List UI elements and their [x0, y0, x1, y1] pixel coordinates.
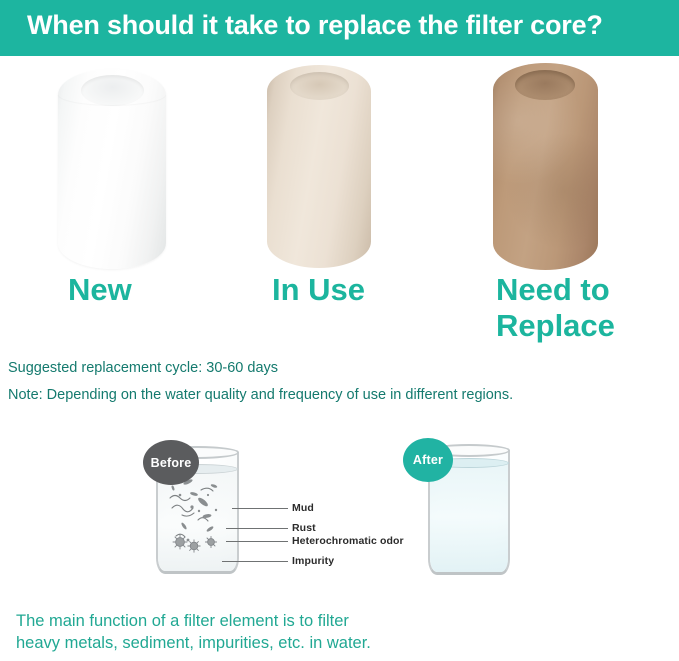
cartridge-bore-hole-icon: [81, 75, 144, 106]
cartridge-bore-hole-icon: [290, 72, 349, 100]
cartridge-bore-hole-icon: [515, 70, 575, 100]
badge-before: Before: [143, 440, 199, 485]
callout-impurity: Impurity: [292, 555, 334, 567]
callout-mud: Mud: [292, 502, 314, 514]
page-title: When should it take to replace the filte…: [27, 10, 667, 41]
leader-line-impurity: [222, 561, 288, 562]
note-replacement-cycle: Suggested replacement cycle: 30-60 days: [8, 360, 278, 376]
leader-line-rust: [226, 528, 288, 529]
filter-cartridge-new: [58, 69, 166, 269]
filter-cartridge-need-replace: [493, 63, 598, 270]
infographic-page: When should it take to replace the filte…: [0, 0, 679, 661]
header-banner: When should it take to replace the filte…: [0, 0, 679, 56]
footer-description: The main function of a filter element is…: [16, 610, 576, 654]
cartridge-label-need-replace: Need to Replace: [496, 272, 615, 344]
cartridge-label-new: New: [68, 272, 132, 308]
callout-rust: Rust: [292, 522, 316, 534]
note-region-dependency: Note: Depending on the water quality and…: [8, 387, 513, 403]
cartridge-label-in-use: In Use: [272, 272, 365, 308]
filter-cartridge-in-use: [267, 65, 371, 268]
leader-line-mud: [232, 508, 288, 509]
before-after-comparison: Before Mud Rust Heterochromatic odor Imp…: [0, 430, 679, 605]
callout-heterochromatic-odor: Heterochromatic odor: [292, 535, 404, 547]
clear-water: [430, 462, 508, 572]
leader-line-heterochromatic-odor: [226, 541, 288, 542]
badge-after: After: [403, 438, 453, 482]
